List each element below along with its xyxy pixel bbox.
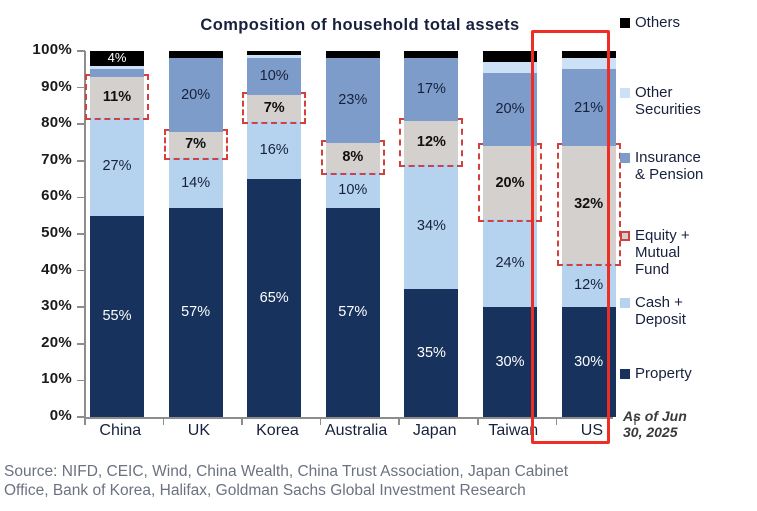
x-axis-label-japan: Japan (395, 422, 474, 440)
x-axis-label-china: China (81, 422, 160, 440)
y-tick-label: 40% (0, 261, 72, 278)
bar-segment-label: 24% (495, 256, 524, 271)
y-tick-label: 60% (0, 187, 72, 204)
bar-segment-label: 10% (260, 69, 289, 84)
bar-segment: 57% (326, 208, 380, 417)
y-tick-mark (77, 380, 85, 382)
bar-segment: 20% (483, 146, 537, 219)
bar-segment: 35% (404, 289, 458, 417)
y-tick-label: 70% (0, 151, 72, 168)
bar-segment-label: 57% (338, 305, 367, 320)
y-tick-mark (77, 123, 85, 125)
bar-segment: 7% (169, 132, 223, 158)
bar-segment: 8% (326, 143, 380, 172)
x-axis-label-uk: UK (160, 422, 239, 440)
bar-segment: 34% (404, 164, 458, 288)
y-tick-label: 0% (0, 407, 72, 424)
bar-segment: 16% (247, 121, 301, 180)
x-axis-label-korea: Korea (238, 422, 317, 440)
legend-label: Equity + Mutual Fund (635, 227, 690, 278)
y-tick-mark (77, 87, 85, 89)
x-axis-label-australia: Australia (317, 422, 396, 440)
legend-item-others[interactable]: Others (620, 14, 680, 31)
square-swatch-icon (620, 153, 630, 163)
y-tick-label: 50% (0, 224, 72, 241)
legend-item-other-securities[interactable]: Other Securities (620, 84, 701, 118)
bar-segment: 65% (247, 179, 301, 417)
bar-segment: 23% (326, 58, 380, 142)
bar-japan[interactable]: 35%34%12%17% (404, 51, 458, 417)
bar-segment (247, 55, 301, 59)
bar-segment-label: 4% (108, 51, 127, 64)
bar-segment (483, 51, 537, 62)
bar-segment-label: 7% (264, 101, 285, 116)
bar-segment: 17% (404, 58, 458, 120)
bar-segment (90, 69, 144, 76)
square-swatch-icon (620, 369, 630, 379)
y-tick-label: 20% (0, 334, 72, 351)
us-highlight-box (531, 30, 610, 444)
bar-segment (247, 51, 301, 55)
bar-segment-label: 57% (181, 305, 210, 320)
y-tick-mark (77, 270, 85, 272)
legend-label: Insurance & Pension (635, 149, 703, 183)
chart-container: Composition of household total assets 0%… (0, 0, 757, 511)
bar-segment-label: 20% (181, 88, 210, 103)
bar-segment: 24% (483, 219, 537, 307)
y-tick-mark (77, 306, 85, 308)
bar-segment-label: 23% (338, 93, 367, 108)
bar-china[interactable]: 55%27%11%4% (90, 51, 144, 417)
legend-label: Cash + Deposit (635, 294, 686, 328)
bar-segment-label: 34% (417, 219, 446, 234)
bar-korea[interactable]: 65%16%7%10% (247, 51, 301, 417)
bar-segment: 20% (483, 73, 537, 146)
bar-segment: 30% (483, 307, 537, 417)
bar-segment-label: 11% (103, 90, 131, 105)
y-tick-mark (77, 160, 85, 162)
bar-segment-label: 14% (181, 176, 210, 191)
bar-segment: 55% (90, 216, 144, 417)
y-tick-label: 30% (0, 297, 72, 314)
square-swatch-icon (620, 18, 630, 28)
bar-segment (404, 51, 458, 58)
bar-segment-label: 10% (338, 183, 367, 198)
bar-segment-label: 12% (417, 135, 446, 150)
bar-segment (90, 66, 144, 70)
source-note: Source: NIFD, CEIC, Wind, China Wealth, … (4, 462, 757, 500)
bar-segment-label: 27% (102, 159, 131, 174)
bar-australia[interactable]: 57%10%8%23% (326, 51, 380, 417)
y-tick-mark (77, 50, 85, 52)
bar-segment: 20% (169, 58, 223, 131)
y-tick-label: 100% (0, 41, 72, 58)
bar-segment-label: 20% (495, 102, 524, 117)
bar-uk[interactable]: 57%14%7%20% (169, 51, 223, 417)
legend-item-insurance-pension[interactable]: Insurance & Pension (620, 149, 703, 183)
legend-label: Others (635, 14, 680, 31)
bar-segment: 4% (90, 51, 144, 66)
bar-segment-label: 20% (495, 176, 524, 191)
as-of-note: As of Jun 30, 2025 (623, 408, 687, 440)
bar-segment (483, 62, 537, 73)
bar-segment: 10% (247, 58, 301, 95)
legend-item-cash-deposit[interactable]: Cash + Deposit (620, 294, 686, 328)
chart-title: Composition of household total assets (160, 16, 560, 35)
y-tick-mark (77, 197, 85, 199)
square-swatch-icon (620, 88, 630, 98)
bar-segment: 57% (169, 208, 223, 417)
bar-segment-label: 17% (417, 82, 446, 97)
bar-segment-label: 30% (495, 355, 524, 370)
bar-segment: 14% (169, 157, 223, 208)
bar-segment-label: 55% (102, 309, 131, 324)
y-tick-label: 10% (0, 370, 72, 387)
dashed-square-swatch-icon (620, 231, 630, 241)
bar-segment: 12% (404, 121, 458, 165)
bar-taiwan[interactable]: 30%24%20%20% (483, 51, 537, 417)
y-tick-label: 90% (0, 78, 72, 95)
y-tick-label: 80% (0, 114, 72, 131)
bar-segment-label: 7% (185, 137, 206, 152)
bar-segment: 7% (247, 95, 301, 121)
y-tick-mark (77, 343, 85, 345)
legend-label: Other Securities (635, 84, 701, 118)
legend-item-equity-mutual-fund[interactable]: Equity + Mutual Fund (620, 227, 690, 278)
bar-segment-label: 35% (417, 346, 446, 361)
bar-segment: 27% (90, 117, 144, 216)
bar-segment-label: 16% (260, 143, 289, 158)
bar-segment: 11% (90, 77, 144, 117)
bar-segment-label: 8% (342, 150, 363, 165)
square-swatch-icon (620, 298, 630, 308)
bar-segment-label: 65% (260, 291, 289, 306)
legend-item-property[interactable]: Property (620, 365, 692, 382)
bar-segment: 10% (326, 172, 380, 209)
bar-segment (326, 51, 380, 58)
legend-label: Property (635, 365, 692, 382)
bar-segment (169, 51, 223, 58)
y-tick-mark (77, 233, 85, 235)
